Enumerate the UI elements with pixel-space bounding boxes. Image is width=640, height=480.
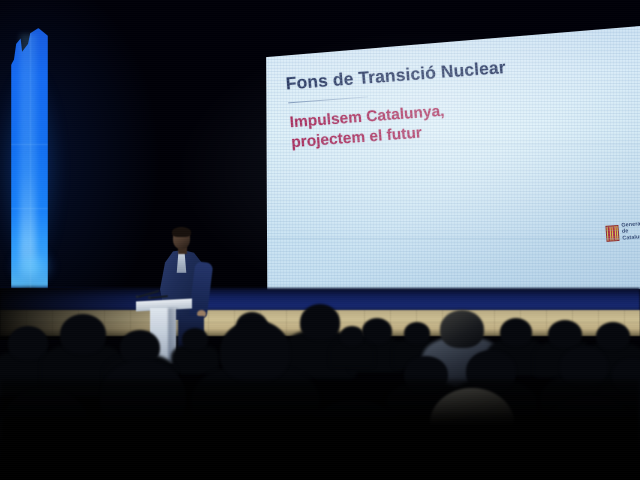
screen-panel-seam (262, 238, 640, 239)
audience-member-head (340, 326, 364, 346)
blue-column-core-light (20, 34, 36, 284)
audience-member-head (60, 314, 106, 354)
conference-photo-scene: Fons de Transició Nuclear Impulsem Catal… (0, 0, 640, 480)
audience-member-head (220, 320, 290, 382)
audience-member-head (548, 320, 582, 348)
slide-subtitle: Impulsem Catalunya, projectem el futur (289, 102, 447, 153)
logo-text-line1: Generalitat (621, 221, 640, 229)
audience-member-head (8, 326, 48, 360)
generalitat-de-catalunya-logo: Generalitatde Catalunya (605, 221, 640, 243)
slide-divider (288, 96, 368, 103)
audience-member-head (404, 322, 430, 344)
audience-member-head (120, 330, 160, 364)
audience-member-head (362, 318, 392, 344)
speaker-hair (172, 227, 191, 237)
audience-member-head (440, 310, 484, 348)
audience-member-head (300, 304, 340, 340)
audience-member-head (596, 322, 630, 350)
slide-title: Fons de Transició Nuclear (285, 57, 506, 94)
audience-member-head (500, 318, 532, 346)
audience-member-head (182, 328, 208, 350)
projection-screen: Fons de Transició Nuclear Impulsem Catal… (262, 26, 640, 294)
foreground-darkness (0, 380, 640, 480)
logo-text-line2: de Catalunya (622, 229, 640, 242)
screen-panel-seam (262, 144, 640, 145)
slide-content: Fons de Transició Nuclear Impulsem Catal… (262, 26, 640, 294)
